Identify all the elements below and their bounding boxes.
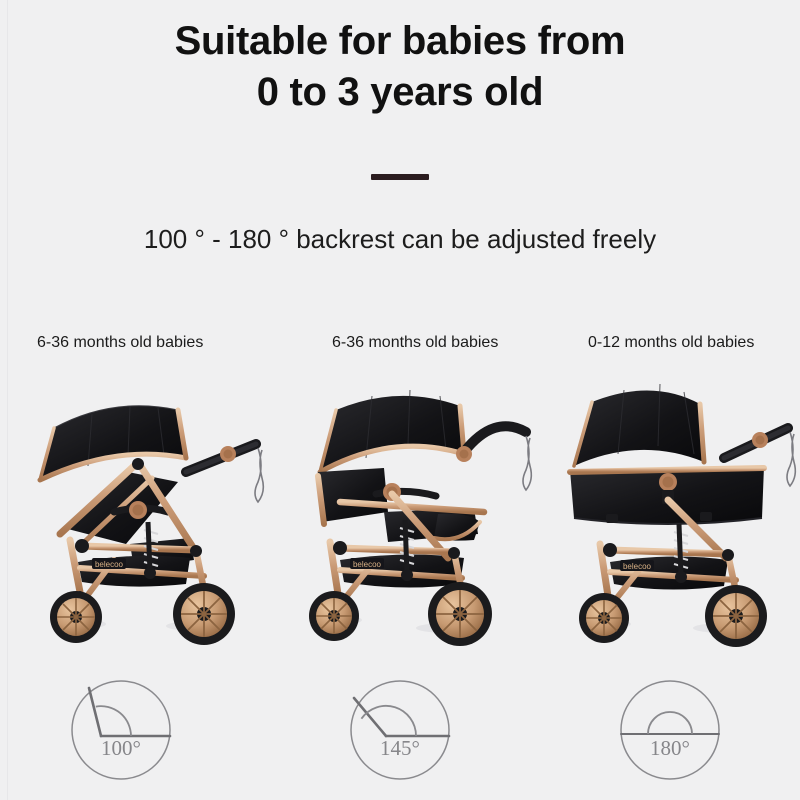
- brand-mark-text: belecoo: [623, 562, 652, 571]
- caption-mode-1: 6-36 months old babies: [37, 334, 203, 352]
- caption-mode-3: 0-12 months old babies: [588, 334, 754, 352]
- brand-mark-text: belecoo: [353, 560, 382, 569]
- stroller-row: belecoo: [0, 362, 800, 647]
- title-divider: [371, 174, 429, 180]
- caption-row: 6-36 months old babies 6-36 months old b…: [0, 334, 800, 360]
- angle-diagram-row: 100° 145° 180°: [0, 678, 800, 788]
- angle-diagram-145: 145°: [348, 678, 452, 782]
- stroller-image-bassinet: belecoo: [548, 362, 800, 647]
- stroller-image-reclined: belecoo: [288, 362, 553, 647]
- caption-mode-2: 6-36 months old babies: [332, 334, 498, 352]
- angle-diagram-100: 100°: [69, 678, 173, 782]
- stroller-image-upright: belecoo: [18, 362, 283, 647]
- subtitle-text: 100 ° - 180 ° backrest can be adjusted f…: [0, 224, 800, 255]
- page-title-line-2: 0 to 3 years old: [0, 67, 800, 118]
- page-title: Suitable for babies from 0 to 3 years ol…: [0, 16, 800, 118]
- brand-mark-text: belecoo: [95, 560, 124, 569]
- page-title-line-1: Suitable for babies from: [175, 19, 626, 63]
- angle-diagram-180: 180°: [618, 678, 722, 782]
